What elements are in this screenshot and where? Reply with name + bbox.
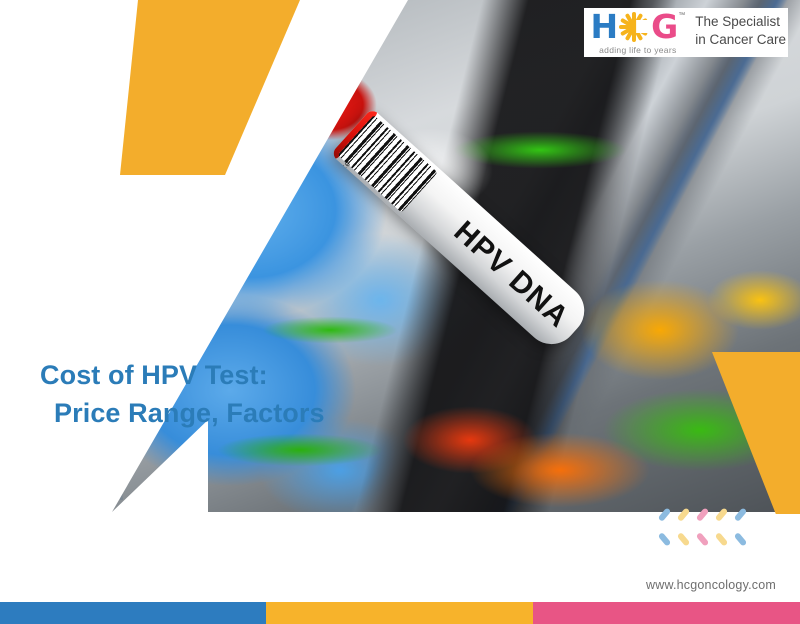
sun-icon xyxy=(619,12,649,42)
page-title: Cost of HPV Test: Price Range, Factors xyxy=(40,356,325,433)
footer-color-bar xyxy=(0,602,800,624)
chevron-left-icon-5 xyxy=(734,510,750,544)
bar-segment-blue xyxy=(0,602,266,624)
chevron-left-icon-1 xyxy=(658,510,674,544)
page-title-line2: Price Range, Factors xyxy=(40,394,325,432)
chevron-left-icon-4 xyxy=(715,510,731,544)
chevron-left-icon-3 xyxy=(696,510,712,544)
logo-letters: H G ™ xyxy=(590,10,685,43)
promo-banner: 0123456789 HPV DNA H xyxy=(0,0,800,624)
chevron-decoration-group xyxy=(658,510,750,544)
brand-slogan-line1: The Specialist xyxy=(695,13,786,31)
hcg-logo[interactable]: H G ™ xyxy=(584,8,788,57)
yellow-parallelogram-decoration xyxy=(0,0,300,175)
page-title-line1: Cost of HPV Test: xyxy=(40,360,268,390)
brand-slogan: The Specialist in Cancer Care xyxy=(695,10,786,49)
logo-tagline: adding life to years xyxy=(599,45,676,55)
chevron-left-icon-2 xyxy=(677,510,693,544)
logo-mark: H G ™ xyxy=(590,10,685,55)
hero-photo: 0123456789 HPV DNA xyxy=(0,0,800,512)
trademark-symbol: ™ xyxy=(678,12,685,19)
logo-letter-h: H xyxy=(590,10,617,43)
brand-slogan-line2: in Cancer Care xyxy=(695,31,786,49)
website-url[interactable]: www.hcgoncology.com xyxy=(646,578,776,592)
logo-letter-g: G xyxy=(651,10,677,43)
bar-segment-yellow xyxy=(266,602,533,624)
lab-photo-background xyxy=(0,0,800,512)
bar-segment-pink xyxy=(533,602,800,624)
